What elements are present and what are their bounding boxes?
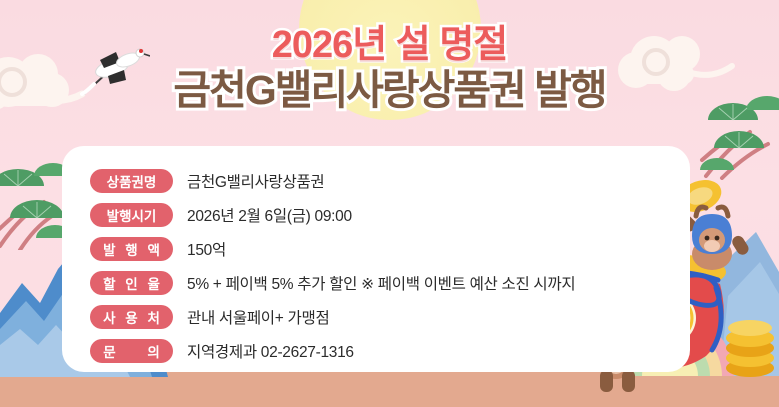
label-product-name: 상품권명 xyxy=(90,169,173,193)
info-row-usage-place: 사 용 처 관내 서울페이+ 가맹점 xyxy=(90,301,690,332)
label-issue-amount: 발 행 액 xyxy=(90,237,173,261)
info-row-inquiry: 문 의 지역경제과 02-2627-1316 xyxy=(90,335,690,366)
info-row-discount-rate: 할 인 율 5% + 페이백 5% 추가 할인 ※ 페이백 이벤트 예산 소진 … xyxy=(90,267,690,298)
banner-title: 2026년 설 명절 금천G밸리사랑상품권 발행 xyxy=(0,26,779,112)
value-usage-place: 관내 서울페이+ 가맹점 xyxy=(187,306,329,328)
label-discount-rate: 할 인 율 xyxy=(90,271,173,295)
info-card: 상품권명 금천G밸리사랑상품권 발행시기 2026년 2월 6일(금) 09:0… xyxy=(62,146,690,372)
value-discount-rate: 5% + 페이백 5% 추가 할인 ※ 페이백 이벤트 예산 소진 시까지 xyxy=(187,272,575,294)
title-line-2: 금천G밸리사랑상품권 발행 xyxy=(0,70,779,112)
label-usage-place: 사 용 처 xyxy=(90,305,173,329)
lunar-new-year-banner: 福 xyxy=(0,0,779,407)
title-line-1: 2026년 설 명절 xyxy=(272,24,508,66)
value-inquiry: 지역경제과 02-2627-1316 xyxy=(187,340,354,362)
label-issue-time: 발행시기 xyxy=(90,203,173,227)
info-row-product-name: 상품권명 금천G밸리사랑상품권 xyxy=(90,165,690,196)
label-inquiry: 문 의 xyxy=(90,339,173,363)
info-row-issue-amount: 발 행 액 150억 xyxy=(90,233,690,264)
info-row-issue-time: 발행시기 2026년 2월 6일(금) 09:00 xyxy=(90,199,690,230)
value-issue-time: 2026년 2월 6일(금) 09:00 xyxy=(187,204,352,226)
value-issue-amount: 150억 xyxy=(187,238,226,260)
value-product-name: 금천G밸리사랑상품권 xyxy=(187,170,324,192)
